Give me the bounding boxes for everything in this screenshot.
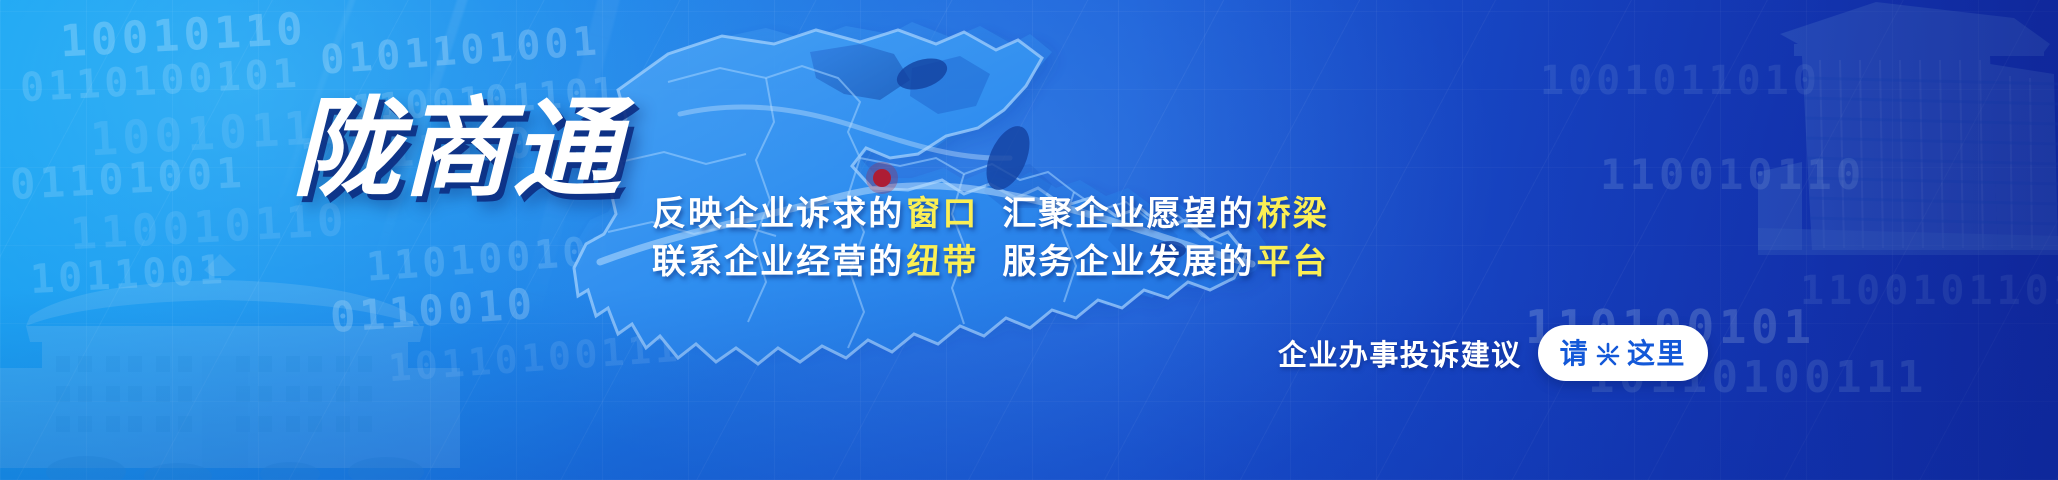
- government-building-silhouette: [0, 230, 460, 480]
- highrise-building-silhouette: [1758, 0, 2058, 255]
- tagline-2-highlight-b: 平台: [1255, 242, 1331, 282]
- tagline-block: 反映企业诉求的窗口汇聚企业愿望的桥梁 联系企业经营的纽带服务企业发展的平台: [652, 190, 1331, 287]
- tagline-2-plain-a: 联系企业经营的: [652, 242, 904, 282]
- tagline-row-2: 联系企业经营的纽带服务企业发展的平台: [652, 238, 1331, 286]
- cta-label: 企业办事投诉建议: [1278, 332, 1522, 374]
- click-sparkle-icon: [1595, 341, 1621, 367]
- tagline-1-plain-b: 汇聚企业愿望的: [1002, 194, 1254, 234]
- cta-row: 企业办事投诉建议 请 这里: [1278, 325, 1708, 381]
- tagline-1-highlight-b: 桥梁: [1255, 194, 1331, 234]
- tagline-2-highlight-a: 纽带: [904, 242, 980, 282]
- banner-root: 10010110 0110100101 1001011010 01101001 …: [0, 0, 2058, 480]
- tagline-1-plain-a: 反映企业诉求的: [652, 194, 904, 234]
- complaint-suggestion-button[interactable]: 请 这里: [1538, 325, 1708, 381]
- cta-button-suffix: 这里: [1627, 332, 1686, 372]
- cta-button-prefix: 请: [1560, 332, 1589, 372]
- tagline-2-plain-b: 服务企业发展的: [1002, 242, 1254, 282]
- page-title: 陇商通: [292, 96, 622, 204]
- tagline-1-highlight-a: 窗口: [904, 194, 980, 234]
- tagline-row-1: 反映企业诉求的窗口汇聚企业愿望的桥梁: [652, 190, 1331, 238]
